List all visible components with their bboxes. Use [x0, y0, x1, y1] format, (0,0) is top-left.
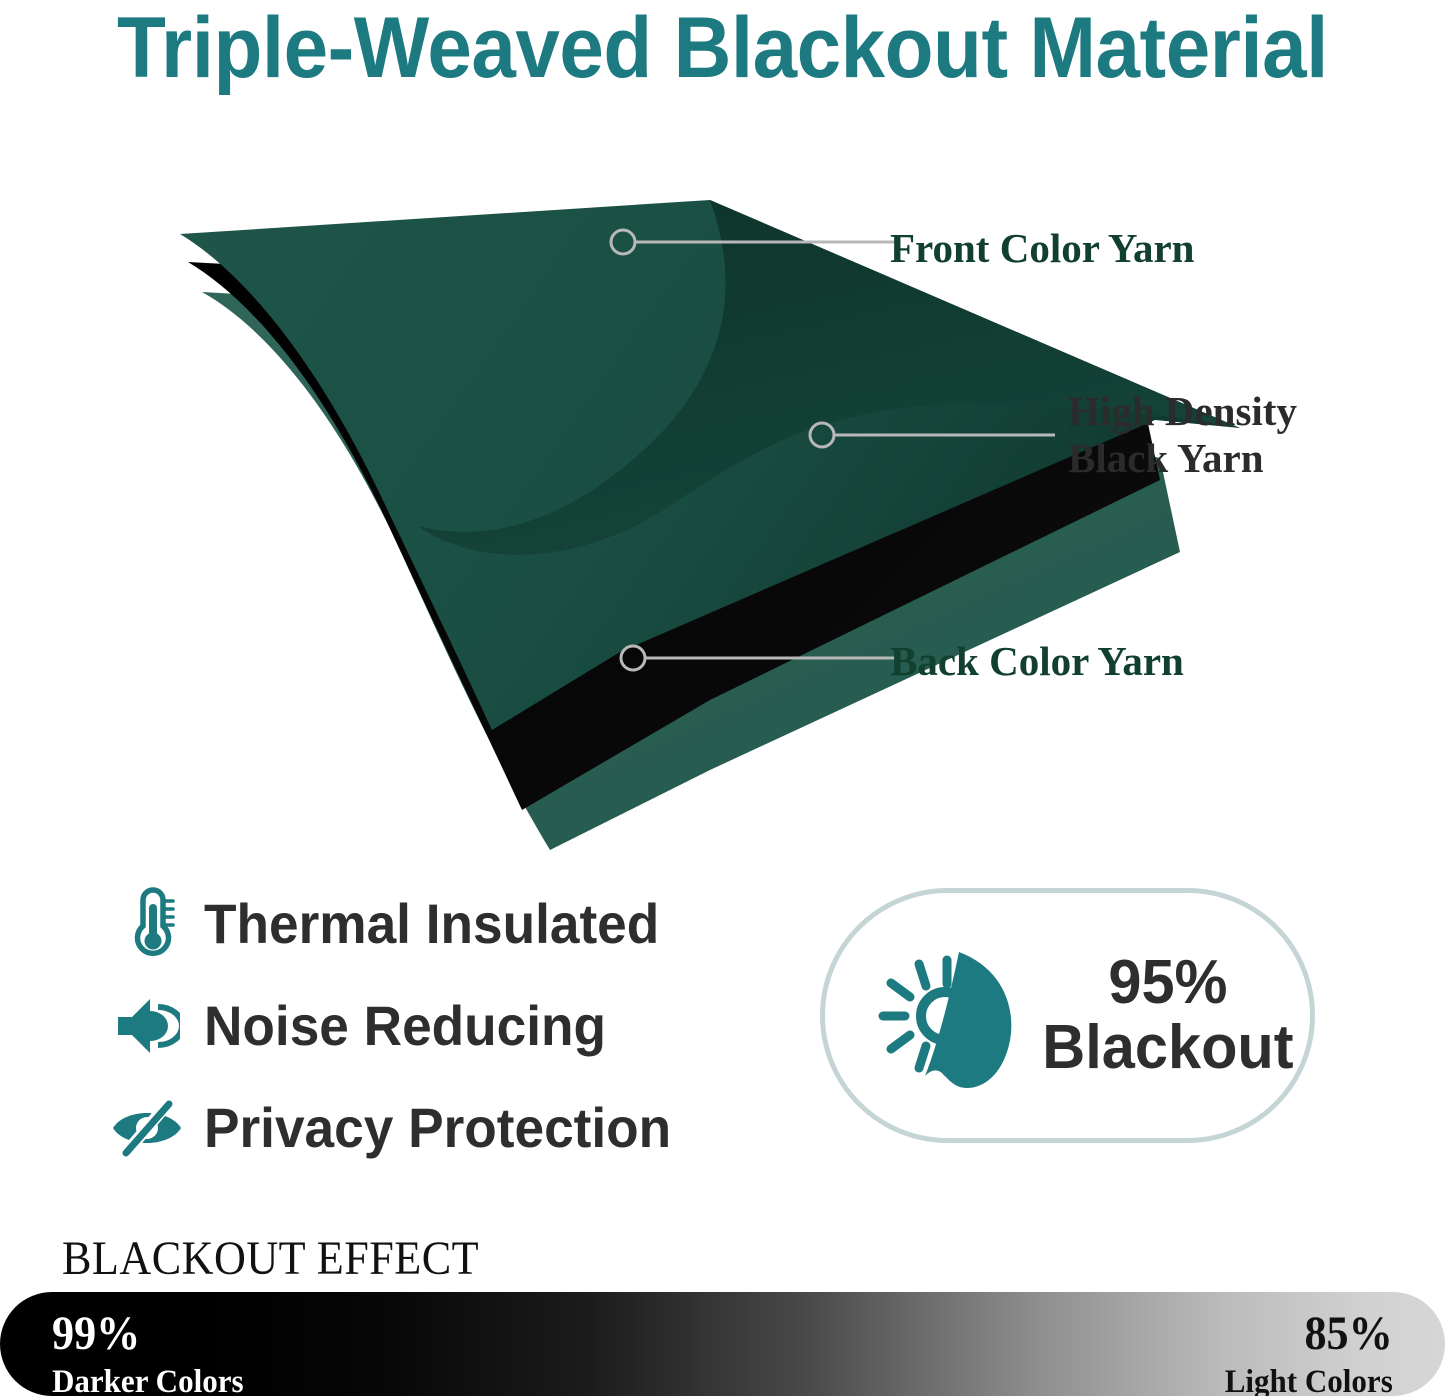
blackout-effect-heading: BLACKOUT EFFECT: [62, 1232, 479, 1286]
blackout-badge: 95% Blackout: [820, 888, 1315, 1143]
bar-caption-light: Light Colors: [1225, 1363, 1393, 1396]
bar-percent-light: 85%: [1229, 1309, 1393, 1359]
thermometer-icon: [108, 886, 186, 962]
badge-word: Blackout: [1042, 1015, 1293, 1081]
label-high-density-line2: Black Yarn: [1068, 435, 1368, 482]
page-title: Triple-Weaved Blackout Material: [51, 2, 1395, 94]
feature-row-privacy-protection: Privacy Protection: [108, 1084, 748, 1172]
badge-text: 95% Blackout: [1037, 951, 1299, 1081]
feature-label-thermal-insulated: Thermal Insulated: [204, 894, 659, 954]
sun-blocked-by-curtain-icon: [867, 942, 1019, 1090]
feature-row-thermal-insulated: Thermal Insulated: [108, 880, 748, 968]
label-high-density-black-yarn: High Density Black Yarn: [1068, 388, 1368, 482]
blackout-effect-section: BLACKOUT EFFECT 99% Darker Colors 85% Li…: [0, 1232, 1445, 1396]
label-front-color-yarn: Front Color Yarn: [890, 225, 1194, 272]
label-back-color-yarn: Back Color Yarn: [890, 638, 1184, 685]
feature-label-noise-reducing: Noise Reducing: [204, 996, 606, 1056]
bar-stat-light-colors: 85% Light Colors: [1214, 1309, 1393, 1396]
label-high-density-line1: High Density: [1068, 388, 1368, 435]
eye-slash-icon: [108, 1098, 186, 1158]
feature-row-noise-reducing: Noise Reducing: [108, 982, 748, 1070]
blackout-gradient-bar: 99% Darker Colors 85% Light Colors: [0, 1292, 1445, 1396]
badge-percent: 95%: [1042, 951, 1293, 1015]
feature-label-privacy-protection: Privacy Protection: [204, 1098, 671, 1158]
bar-percent-darker: 99%: [52, 1309, 239, 1359]
bar-stat-darker-colors: 99% Darker Colors: [52, 1309, 256, 1396]
feature-list: Thermal Insulated Noise Reducing: [108, 880, 748, 1186]
bar-caption-darker: Darker Colors: [52, 1363, 244, 1396]
speaker-sound-icon: [108, 993, 186, 1059]
